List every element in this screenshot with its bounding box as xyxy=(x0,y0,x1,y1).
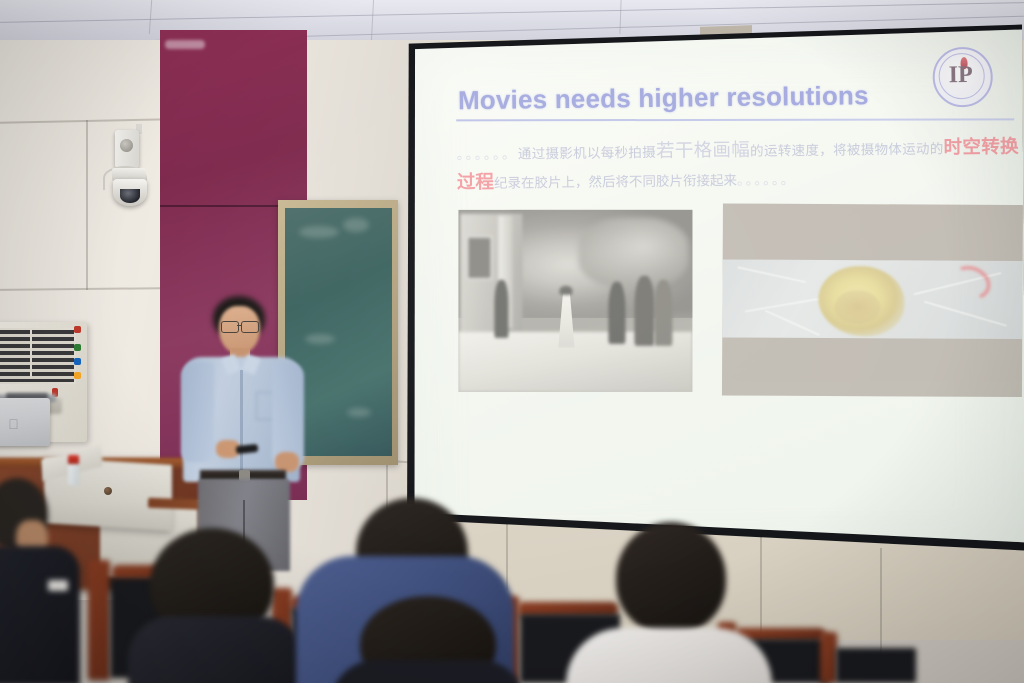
apple-logo-icon:  xyxy=(8,418,19,431)
shirt-cuff xyxy=(48,580,68,591)
shirt-placket xyxy=(240,370,243,470)
ac-button-cool[interactable] xyxy=(74,358,81,365)
audience-body xyxy=(330,660,526,683)
lecture-hall-photo:  Movies needs higher resolutions IP 。。。… xyxy=(0,0,1024,683)
air-conditioner-grille xyxy=(0,328,76,384)
audience-hair xyxy=(616,522,726,634)
water-bottle-cap-icon xyxy=(68,455,79,464)
glasses-icon xyxy=(221,321,239,333)
wall-panel-seam xyxy=(86,120,88,290)
lectern-knob xyxy=(104,487,112,495)
chair-backrest xyxy=(836,648,916,683)
ac-button-fan[interactable] xyxy=(74,372,81,379)
wooden-chair[interactable] xyxy=(88,560,110,680)
air-conditioner-grille-divider xyxy=(30,330,32,378)
ac-button-power[interactable] xyxy=(74,326,81,333)
projection-screen-surface xyxy=(396,22,1024,574)
glasses-bridge xyxy=(237,325,241,326)
maroon-panel-highlight xyxy=(165,40,205,49)
wooden-chair[interactable] xyxy=(820,632,837,683)
glasses-icon xyxy=(241,321,259,333)
projection-screen xyxy=(396,22,1024,574)
audience-body xyxy=(128,616,304,683)
audience-body xyxy=(0,546,80,683)
ac-button-mode[interactable] xyxy=(74,344,81,351)
water-bottle xyxy=(68,463,79,485)
camera-dome-glass xyxy=(120,189,140,203)
audience-body xyxy=(566,628,772,683)
camera-lens-icon xyxy=(120,139,133,152)
presenter-left-arm xyxy=(181,362,214,462)
presenter-hand xyxy=(275,452,299,472)
